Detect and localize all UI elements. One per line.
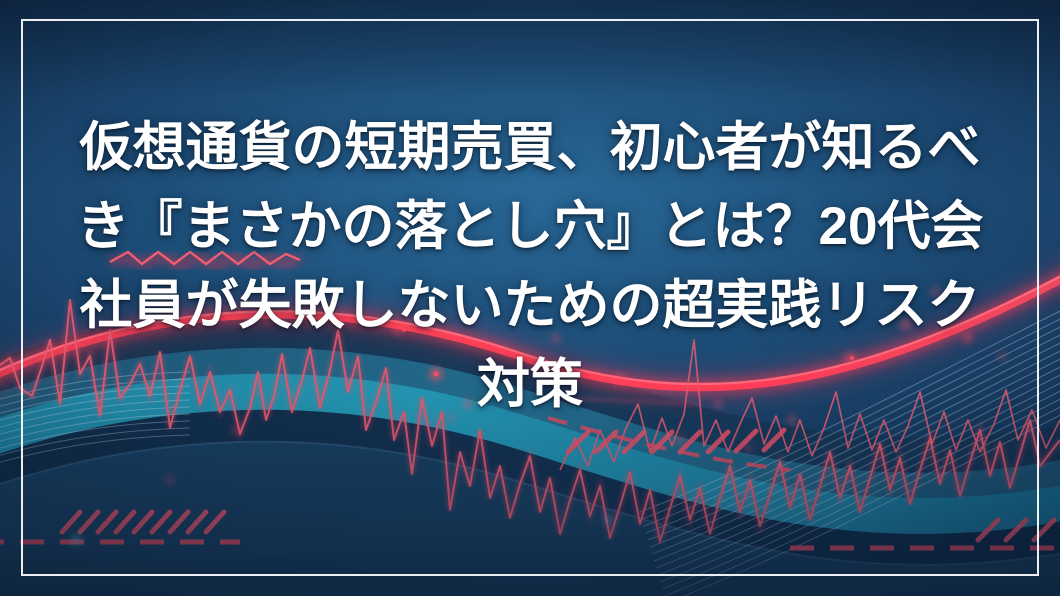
edge-shade-overlay	[0, 0, 1060, 596]
thumbnail-canvas: 仮想通貨の短期売買、初心者が知るべき『まさかの落とし穴』とは？20代会社員が失敗…	[0, 0, 1060, 596]
